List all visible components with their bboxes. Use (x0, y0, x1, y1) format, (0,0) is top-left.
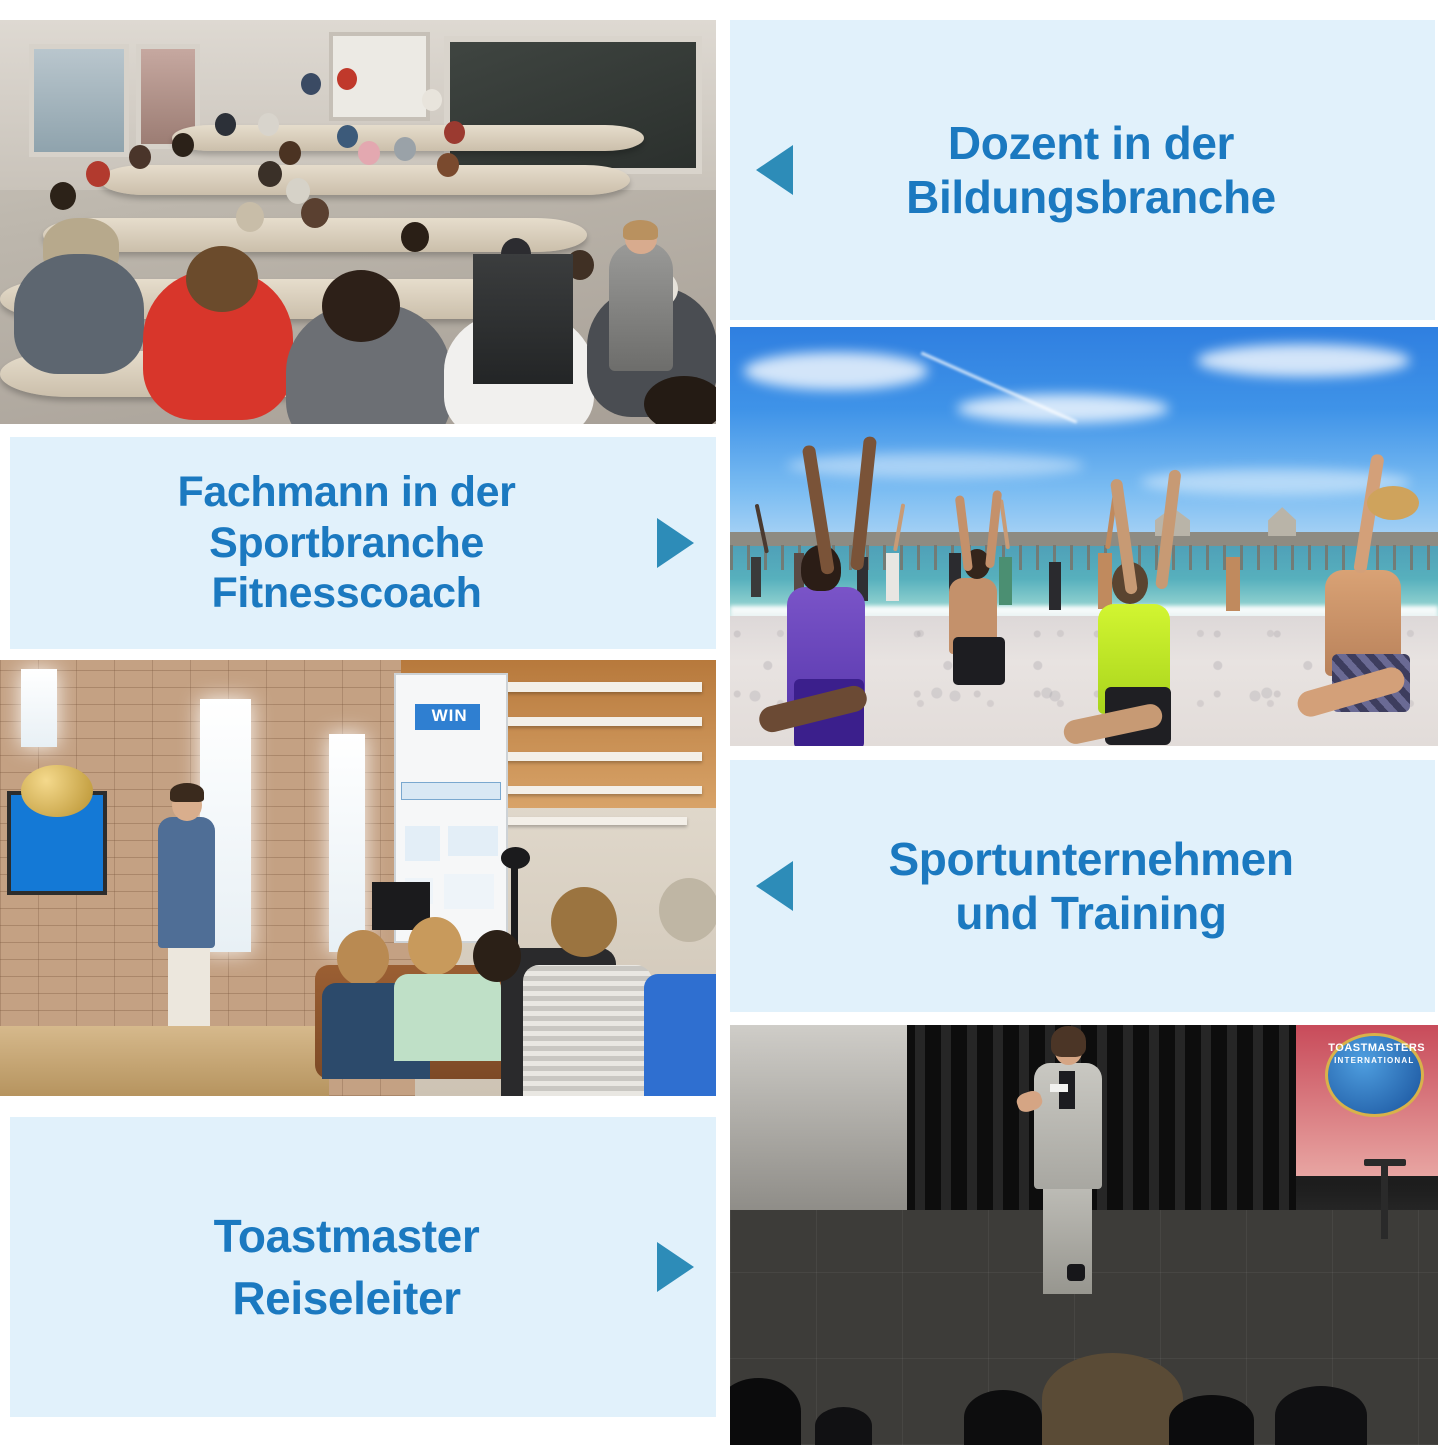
panel-line-1: Fachmann in der Sportbranche (40, 467, 653, 568)
text-dozent-bildung-panel[interactable]: Dozent in der Bildungsbranche (730, 20, 1435, 320)
panel-line-2: Bildungsbranche (797, 170, 1385, 224)
toastmasters-logo-line-1: TOASTMASTERS (1328, 1042, 1425, 1054)
panel-line-2: Reiseleiter (40, 1267, 653, 1329)
photo-lecture-hall (0, 20, 716, 424)
text-toastmaster-panel[interactable]: Toastmaster Reiseleiter (10, 1117, 716, 1417)
panel-line-1: Toastmaster (40, 1205, 653, 1267)
text-fachmann-sport-panel[interactable]: Fachmann in der Sportbranche Fitnesscoac… (10, 437, 716, 649)
photo-office-talk: WIN (0, 660, 716, 1096)
triangle-left-icon (756, 861, 793, 911)
text-sportunternehmen-panel[interactable]: Sportunternehmen und Training (730, 760, 1435, 1012)
photo-beach-fitness (730, 327, 1438, 746)
triangle-right-icon (657, 1242, 694, 1292)
triangle-left-icon (756, 145, 793, 195)
collage-board: Dozent in der Bildungsbranche Fachmann i… (0, 0, 1445, 1445)
panel-line-2: Fitnesscoach (40, 568, 653, 619)
panel-line-1: Dozent in der (797, 116, 1385, 170)
photo-toastmasters-stage: TOASTMASTERS INTERNATIONAL (730, 1025, 1438, 1445)
triangle-right-icon (657, 518, 694, 568)
panel-line-2: und Training (797, 886, 1385, 940)
panel-line-1: Sportunternehmen (797, 832, 1385, 886)
toastmasters-logo-line-2: INTERNATIONAL (1334, 1056, 1414, 1065)
office-win-label: WIN (417, 706, 481, 726)
